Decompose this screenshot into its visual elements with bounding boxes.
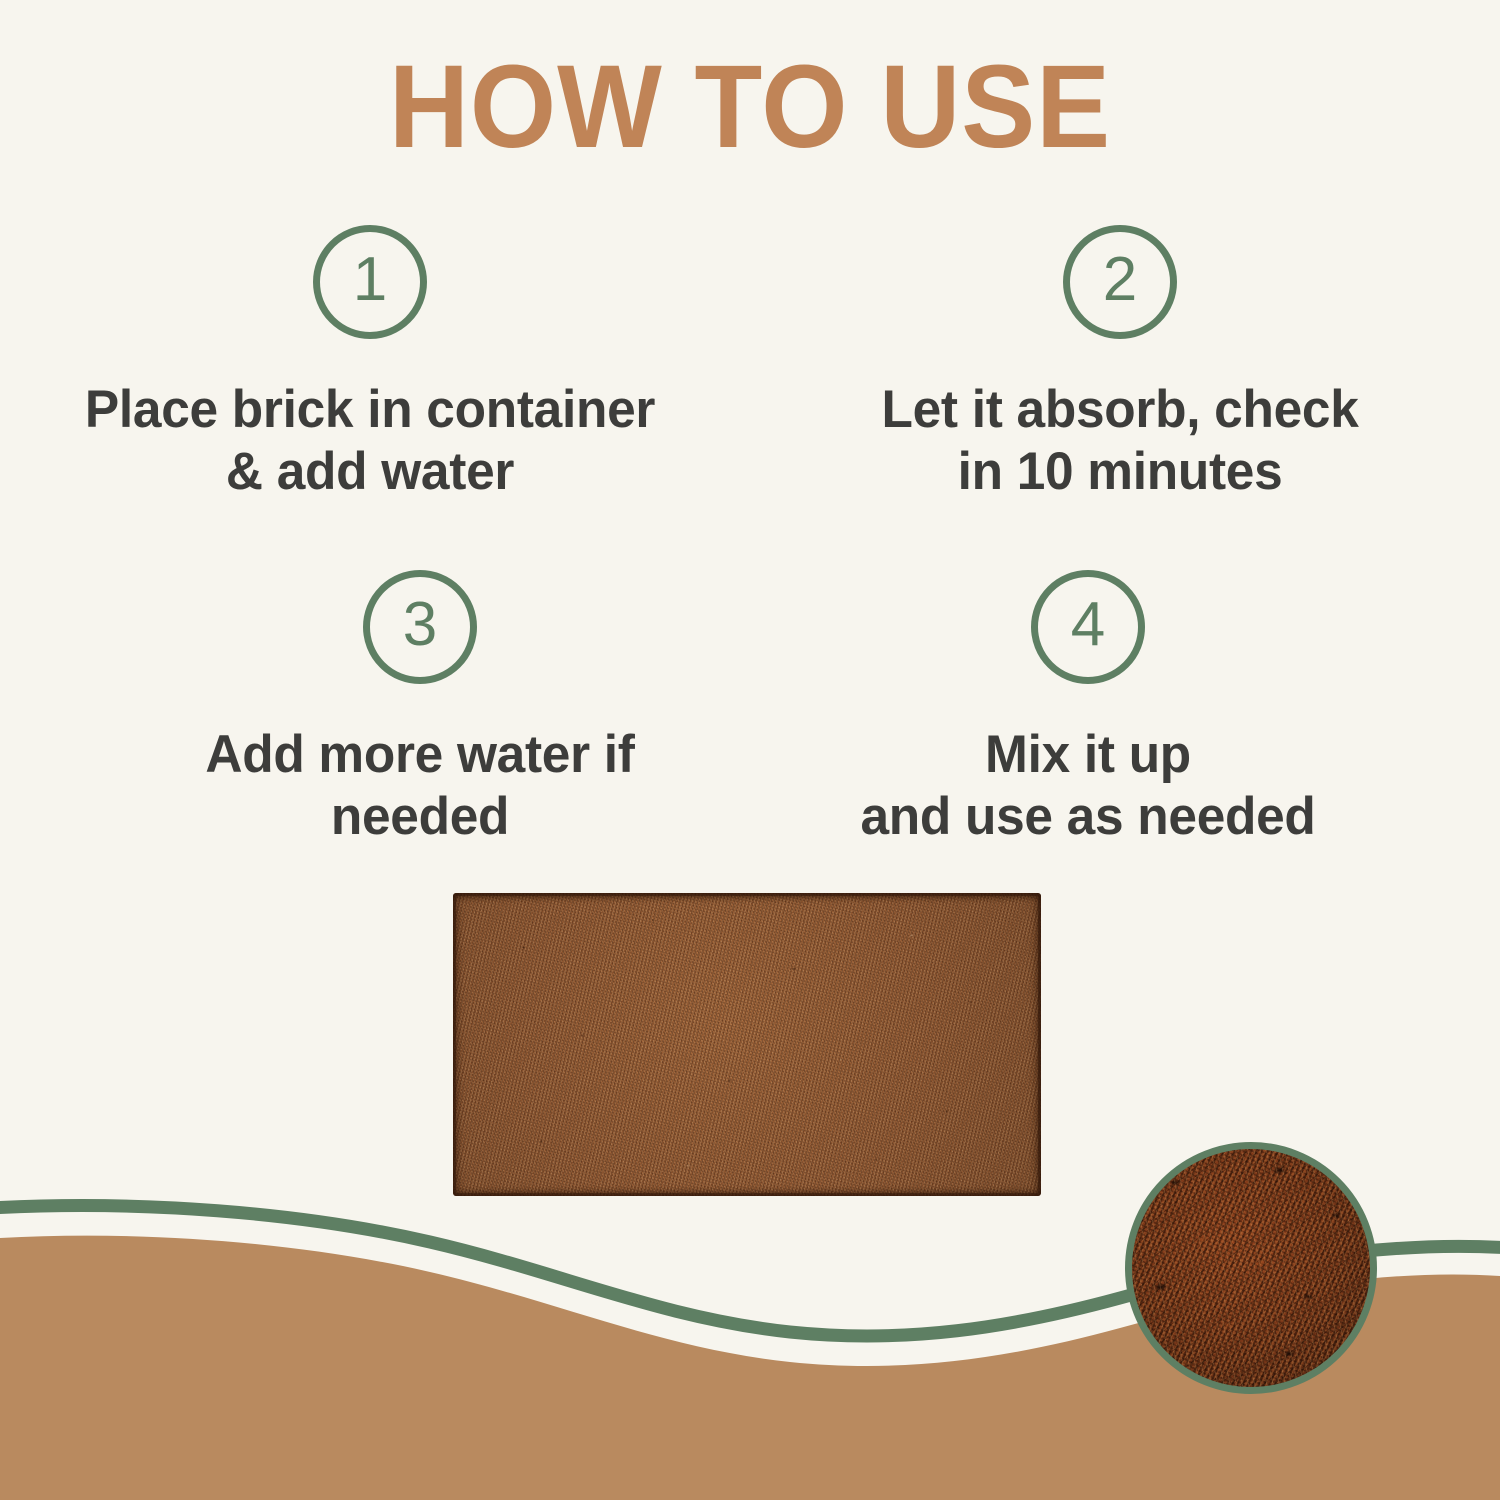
step-1-badge-wrap: 1 — [10, 225, 730, 339]
step-2-text: Let it absorb, check in 10 minutes — [771, 379, 1469, 503]
step-4-number: 4 — [1071, 594, 1105, 656]
step-4-badge-wrap: 4 — [728, 570, 1448, 684]
step-3-line-1: Add more water if — [71, 724, 769, 786]
coir-soil-circle-image — [1125, 1142, 1377, 1394]
step-number-circle-icon: 4 — [1031, 570, 1145, 684]
step-number-circle-icon: 3 — [363, 570, 477, 684]
step-4-line-2: and use as needed — [739, 786, 1437, 848]
step-3-number: 3 — [403, 594, 437, 656]
step-2: 2 Let it absorb, check in 10 minutes — [760, 225, 1480, 503]
step-3-badge-wrap: 3 — [60, 570, 780, 684]
step-1-number: 1 — [353, 249, 387, 311]
step-4-line-1: Mix it up — [739, 724, 1437, 786]
step-2-number: 2 — [1103, 249, 1137, 311]
step-4: 4 Mix it up and use as needed — [728, 570, 1448, 848]
step-number-circle-icon: 1 — [313, 225, 427, 339]
step-2-line-1: Let it absorb, check — [771, 379, 1469, 441]
step-1-line-1: Place brick in container — [21, 379, 719, 441]
step-4-text: Mix it up and use as needed — [739, 724, 1437, 848]
step-3-line-2: needed — [71, 786, 769, 848]
step-1-text: Place brick in container & add water — [21, 379, 719, 503]
step-1-line-2: & add water — [21, 441, 719, 503]
step-number-circle-icon: 2 — [1063, 225, 1177, 339]
step-2-line-2: in 10 minutes — [771, 441, 1469, 503]
soil-fiber-texture — [1132, 1149, 1370, 1387]
step-3-text: Add more water if needed — [71, 724, 769, 848]
page-title: HOW TO USE — [45, 48, 1455, 166]
step-1: 1 Place brick in container & add water — [10, 225, 730, 503]
step-3: 3 Add more water if needed — [60, 570, 780, 848]
step-2-badge-wrap: 2 — [760, 225, 1480, 339]
